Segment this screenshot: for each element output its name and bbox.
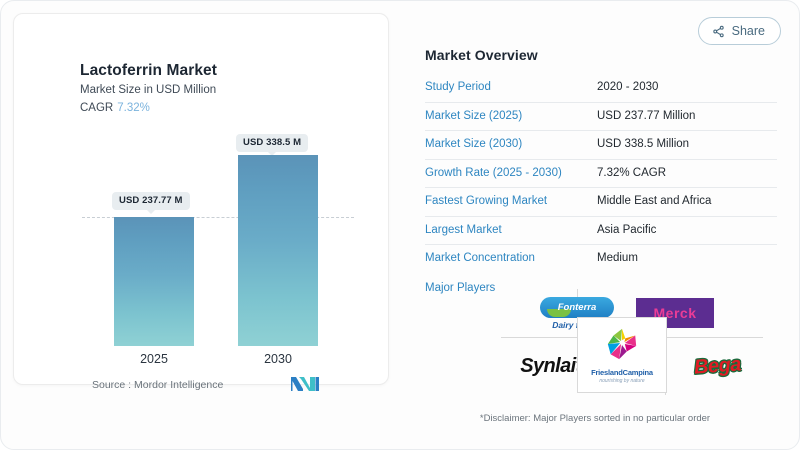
synlait-name: Synlait [520,355,581,378]
bega-name: Bega [693,353,741,379]
row-value: Asia Pacific [597,216,777,245]
table-row: Growth Rate (2025 - 2030) 7.32% CAGR [425,159,777,188]
share-button[interactable]: Share [698,17,781,45]
table-row: Fastest Growing Market Middle East and A… [425,188,777,217]
source-label: Source : Mordor Intelligence [92,379,223,391]
frieslandcampina-tagline: nourishing by nature [591,378,653,384]
row-value: USD 338.5 Million [597,131,777,160]
row-key: Market Size (2025) [425,102,597,131]
table-row: Market Size (2030) USD 338.5 Million [425,131,777,160]
row-value: 2020 - 2030 [597,74,777,102]
x-tick-2030: 2030 [238,352,318,366]
row-key: Fastest Growing Market [425,188,597,217]
row-key: Growth Rate (2025 - 2030) [425,159,597,188]
row-key: Market Size (2030) [425,131,597,160]
row-key: Study Period [425,74,597,102]
market-overview-panel: Market Overview Study Period 2020 - 2030… [425,47,777,294]
row-value: Middle East and Africa [597,188,777,217]
row-key: Market Concentration [425,245,597,273]
fonterra-name: Fonterra [558,302,597,313]
bar-2030[interactable] [238,155,318,346]
frieslandcampina-name: FrieslandCampina [591,368,653,377]
row-value: Medium [597,245,777,273]
disclaimer-text: *Disclaimer: Major Players sorted in no … [405,413,785,424]
share-icon [712,25,725,38]
table-row: Study Period 2020 - 2030 [425,74,777,102]
x-tick-2025: 2025 [114,352,194,366]
chart-card: Lactoferrin Market Market Size in USD Mi… [13,13,389,385]
bar-chart-plot: USD 237.77 M 2025 USD 338.5 M 2030 [14,14,390,386]
row-value: 7.32% CAGR [597,159,777,188]
bar-label-2030: USD 338.5 M [236,134,308,152]
table-row: Market Concentration Medium [425,245,777,273]
bar-2025[interactable] [114,217,194,346]
overview-table: Study Period 2020 - 2030 Market Size (20… [425,74,777,273]
table-row: Largest Market Asia Pacific [425,216,777,245]
logo-bega: Bega [671,337,763,395]
frieslandcampina-star-icon [603,348,641,365]
table-row: Market Size (2025) USD 237.77 Million [425,102,777,131]
row-value: USD 237.77 Million [597,102,777,131]
logo-frieslandcampina: FrieslandCampina nourishing by nature [577,317,667,393]
infographic-page: Share Lactoferrin Market Market Size in … [0,0,800,450]
mordor-intelligence-logo [291,376,319,391]
bar-label-2025: USD 237.77 M [112,192,190,210]
major-players-logo-grid: Fonterra Dairy for life Merck Synlait [501,289,789,397]
overview-title: Market Overview [425,47,777,63]
fonterra-wordmark: Fonterra [540,297,614,318]
share-button-label: Share [732,24,765,38]
row-key: Largest Market [425,216,597,245]
